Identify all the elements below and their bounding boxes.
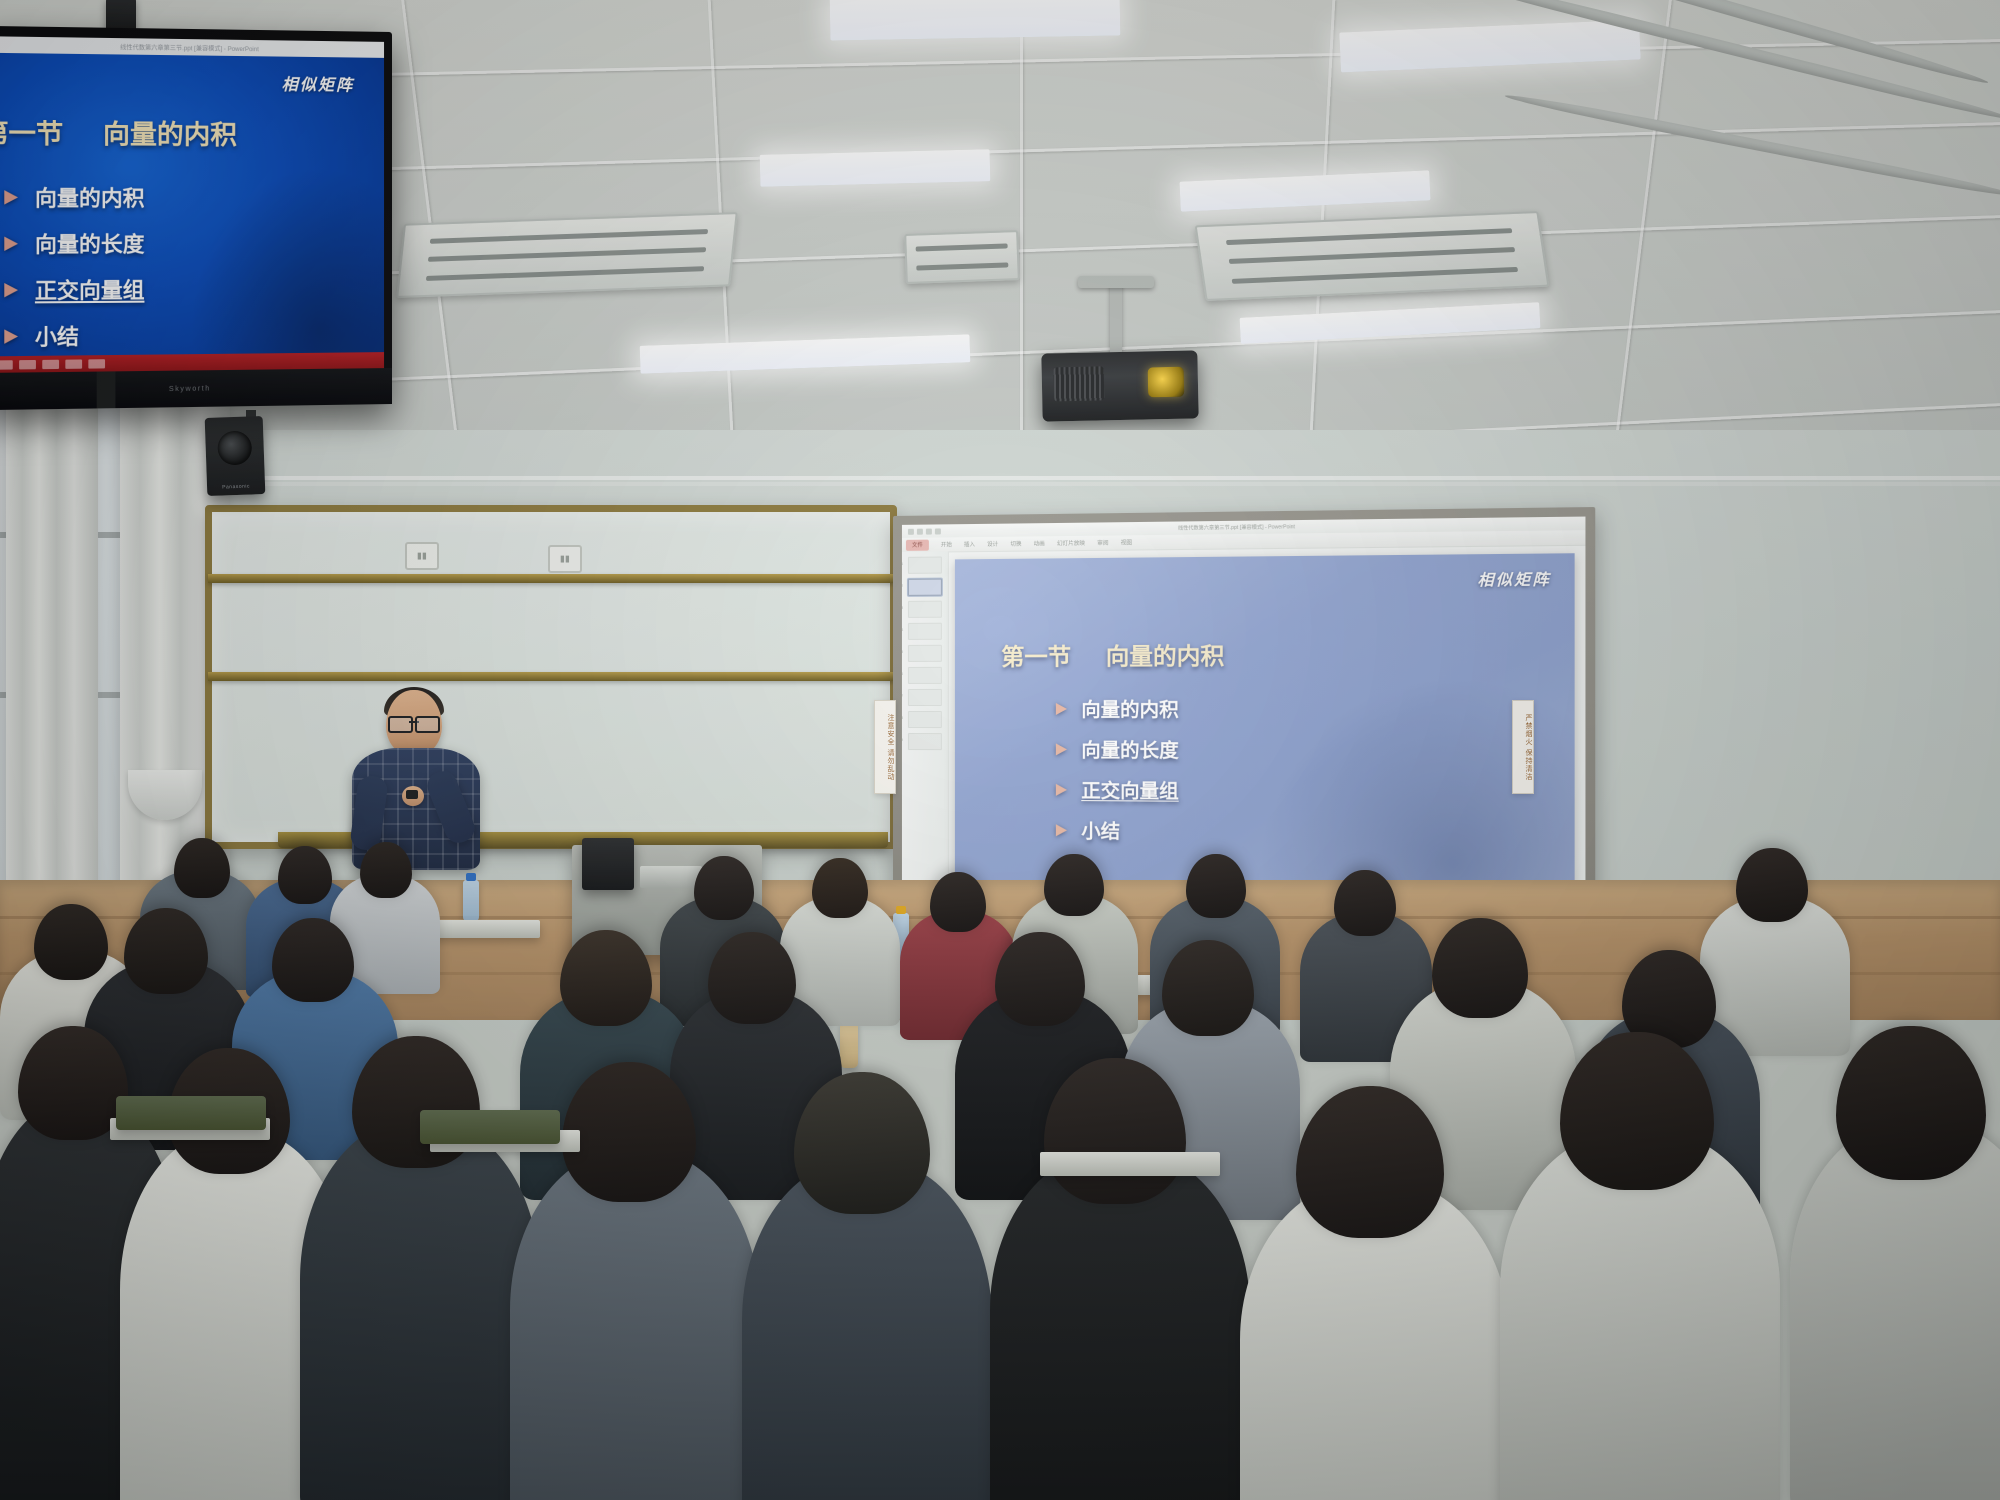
student-head: [278, 846, 332, 904]
ceiling-projector: [1041, 350, 1198, 421]
air-conditioner-vent: [904, 230, 1020, 284]
student-head: [694, 856, 754, 920]
student-audience: [0, 800, 2000, 1500]
ribbon-tab-design[interactable]: 设计: [987, 540, 998, 548]
projector-lens: [1148, 367, 1185, 398]
slide-number: 7: [902, 693, 903, 698]
arrow-bullet-icon: [4, 329, 18, 344]
student-head: [1334, 870, 1396, 936]
tv-slide-title-prefix: 第一节: [0, 118, 63, 149]
arrow-bullet-icon: [4, 283, 18, 298]
taskbar-item[interactable]: [42, 359, 59, 368]
slide-thumbnail[interactable]: 4: [908, 623, 942, 640]
power-socket: ▮▮: [405, 542, 439, 570]
save-icon[interactable]: [908, 528, 914, 534]
classroom-scene: ▮▮ ▮▮ 线性代数第六章第三节.ppt [兼容模式] - PowerPoint…: [0, 0, 2000, 1500]
tv-slide-bullet-list: 向量的内积 向量的长度 正交向量组 小结: [4, 182, 144, 352]
tv-slide-bullet-item: 向量的长度: [4, 228, 144, 259]
wall-tv-monitor: 线性代数第六章第三节.ppt [兼容模式] - PowerPoint 相似矩阵 …: [0, 26, 392, 410]
wall-safety-sign: 严禁烟火 保持清洁: [1512, 700, 1534, 794]
ceiling-light: [760, 149, 991, 187]
ribbon-tab-review[interactable]: 审阅: [1097, 539, 1108, 547]
student-head: [560, 930, 652, 1026]
student-head: [272, 918, 354, 1002]
student-head: [1836, 1026, 1986, 1180]
student-head: [124, 908, 208, 994]
tv-slide-bullet-item: 小结: [4, 320, 144, 352]
ceiling-light: [830, 0, 1121, 41]
tv-slide-bullet-item: 正交向量组: [4, 274, 144, 306]
chair-back: [116, 1096, 266, 1130]
ribbon-tab-home[interactable]: 开始: [941, 540, 952, 548]
power-socket: ▮▮: [548, 545, 582, 573]
tv-mount-bracket: [97, 371, 116, 408]
wall-safety-sign: 注意安全 请勿乱动: [874, 700, 896, 794]
slide-bullet-item: 向量的长度: [1056, 735, 1179, 763]
slide-number: 6: [902, 671, 903, 676]
slide-brand-mark: 相似矩阵: [1477, 568, 1550, 590]
slide-thumbnail[interactable]: 5: [908, 645, 942, 662]
chair-back: [420, 1110, 560, 1144]
projector-mount-plate: [1078, 276, 1154, 288]
slide-thumbnail[interactable]: 9: [908, 733, 942, 750]
student-desk: [430, 920, 540, 938]
slide-thumbnail[interactable]: 6: [908, 667, 942, 684]
ribbon-tab-insert[interactable]: 插入: [964, 540, 975, 548]
tv-brand-logo: Skyworth: [169, 385, 211, 393]
student-head: [174, 838, 230, 898]
student-head: [360, 842, 412, 898]
slide-bullet-item: 向量的内积: [1056, 695, 1179, 723]
tv-slide-bullet-text: 小结: [35, 321, 79, 352]
ribbon-tab-view[interactable]: 视图: [1121, 538, 1132, 546]
slide-number: 2: [902, 583, 903, 588]
taskbar-item[interactable]: [65, 359, 82, 368]
air-conditioner-vent: [1195, 211, 1550, 301]
tv-slide-brand-mark: 相似矩阵: [282, 71, 354, 96]
slide-number: 1: [902, 561, 903, 566]
undo-icon[interactable]: [917, 528, 923, 534]
wall-speaker: Panasonic: [205, 416, 266, 496]
projector-vent: [1054, 366, 1105, 401]
tv-slide-title: 第一节向量的内积: [0, 113, 237, 153]
student-desk: [1040, 1152, 1220, 1176]
slide-title: 第一节向量的内积: [1001, 636, 1224, 671]
student-head: [34, 904, 108, 980]
ribbon-tab-transitions[interactable]: 切换: [1010, 540, 1021, 548]
ribbon-tab-file[interactable]: 文件: [906, 539, 929, 550]
speaker-cone-icon: [217, 431, 252, 466]
student-head: [1044, 854, 1104, 916]
student-head: [995, 932, 1085, 1026]
arrow-bullet-icon: [1056, 702, 1067, 714]
student-head: [812, 858, 868, 918]
glasses-icon: [388, 716, 440, 729]
student-head: [708, 932, 796, 1024]
tv-slide-bullet-text: 向量的长度: [35, 228, 145, 259]
tv-slide-bullet-text: 正交向量组: [35, 274, 145, 305]
air-conditioner-vent: [396, 212, 738, 298]
slide-number: 8: [902, 715, 903, 720]
ribbon-tab-animations[interactable]: 动画: [1034, 539, 1045, 547]
slide-number: 4: [902, 627, 903, 632]
arrow-bullet-icon: [1056, 783, 1067, 795]
tv-screen: 线性代数第六章第三节.ppt [兼容模式] - PowerPoint 相似矩阵 …: [0, 36, 384, 373]
student-head: [1432, 918, 1528, 1018]
speaker-brand-label: Panasonic: [207, 483, 265, 491]
slide-number: 3: [902, 605, 903, 610]
presentation-clicker[interactable]: [406, 790, 418, 799]
student-body: [300, 1120, 540, 1500]
tv-slide-title-main: 向量的内积: [103, 119, 237, 150]
slide-number: 9: [902, 737, 903, 742]
tv-slide-bullet-text: 向量的内积: [35, 182, 145, 213]
student-head: [930, 872, 986, 932]
student-head: [1186, 854, 1246, 918]
student-head: [794, 1072, 930, 1214]
student-head: [1162, 940, 1254, 1036]
arrow-bullet-icon: [1056, 743, 1067, 755]
document-title: 线性代数第六章第三节.ppt [兼容模式] - PowerPoint: [1178, 523, 1295, 532]
redo-icon[interactable]: [926, 528, 932, 534]
student-head: [1736, 848, 1808, 922]
slide-number: 5: [902, 649, 903, 654]
taskbar-item[interactable]: [88, 359, 105, 368]
slide-thumbnail[interactable]: 1: [908, 557, 942, 574]
projector-mount-pole: [1110, 282, 1122, 354]
arrow-bullet-icon: [4, 190, 18, 204]
tv-bezel: Skyworth: [0, 368, 392, 410]
tv-slide: 相似矩阵 第一节向量的内积 向量的内积 向量的长度 正交向量组: [0, 53, 384, 373]
slide-thumbnail[interactable]: 8: [908, 711, 942, 728]
slide-title-prefix: 第一节: [1001, 643, 1071, 669]
slide-thumbnail[interactable]: 7: [908, 689, 942, 706]
ribbon-tab-slideshow[interactable]: 幻灯片放映: [1057, 539, 1085, 547]
student-body: [510, 1150, 760, 1500]
chevron-down-icon[interactable]: [935, 528, 941, 534]
slide-title-main: 向量的内积: [1106, 643, 1224, 670]
slide-bullet-text: 向量的内积: [1081, 695, 1178, 723]
taskbar-item[interactable]: [19, 359, 36, 368]
slide-thumbnail[interactable]: 3: [908, 601, 942, 618]
arrow-bullet-icon: [4, 237, 18, 251]
taskbar-item[interactable]: [0, 360, 13, 369]
slide-bullet-text: 向量的长度: [1081, 735, 1178, 763]
slide-thumbnail-selected[interactable]: 2: [908, 579, 942, 596]
quick-access-toolbar[interactable]: [908, 528, 941, 534]
tv-slide-bullet-item: 向量的内积: [4, 182, 144, 213]
